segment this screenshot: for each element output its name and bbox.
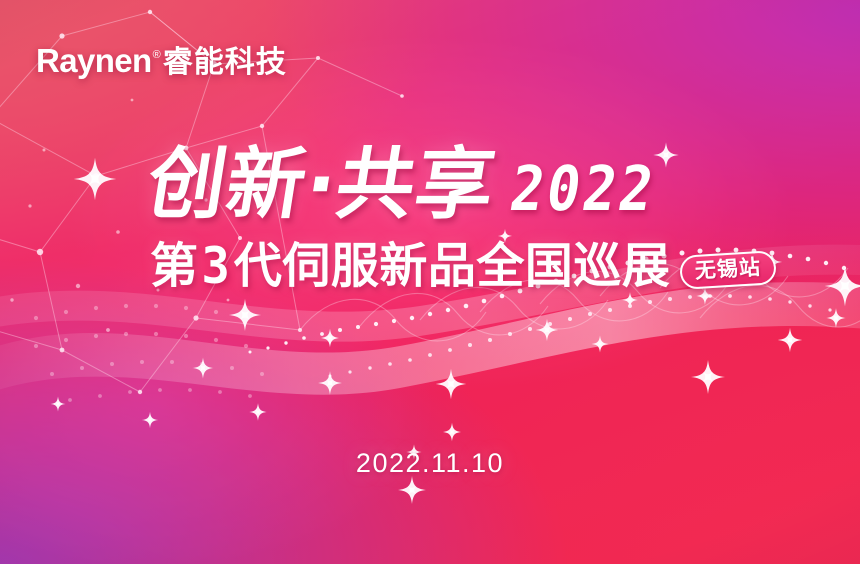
headline-slogan: 创新·共享 <box>142 148 500 223</box>
subtitle-prefix: 第 <box>150 242 199 290</box>
registered-trademark-icon: ® <box>153 50 161 61</box>
brand-logo-latin: Raynen <box>36 44 152 77</box>
brand-logo-chinese: 睿能科技 <box>163 48 287 78</box>
promo-banner: Raynen ® 睿能科技 创新·共享 2022 第 3 代伺服新品全国巡展 无… <box>0 0 860 564</box>
headline: 创新·共享 2022 <box>148 148 655 223</box>
subtitle: 第 3 代伺服新品全国巡展 无锡站 <box>150 242 776 290</box>
subtitle-generation: 3 <box>202 241 231 291</box>
brand-logo: Raynen ® 睿能科技 <box>36 44 287 78</box>
city-badge: 无锡站 <box>679 250 777 290</box>
headline-year: 2022 <box>506 159 660 221</box>
subtitle-suffix: 代伺服新品全国巡展 <box>234 242 671 290</box>
event-date: 2022.11.10 <box>0 448 860 479</box>
